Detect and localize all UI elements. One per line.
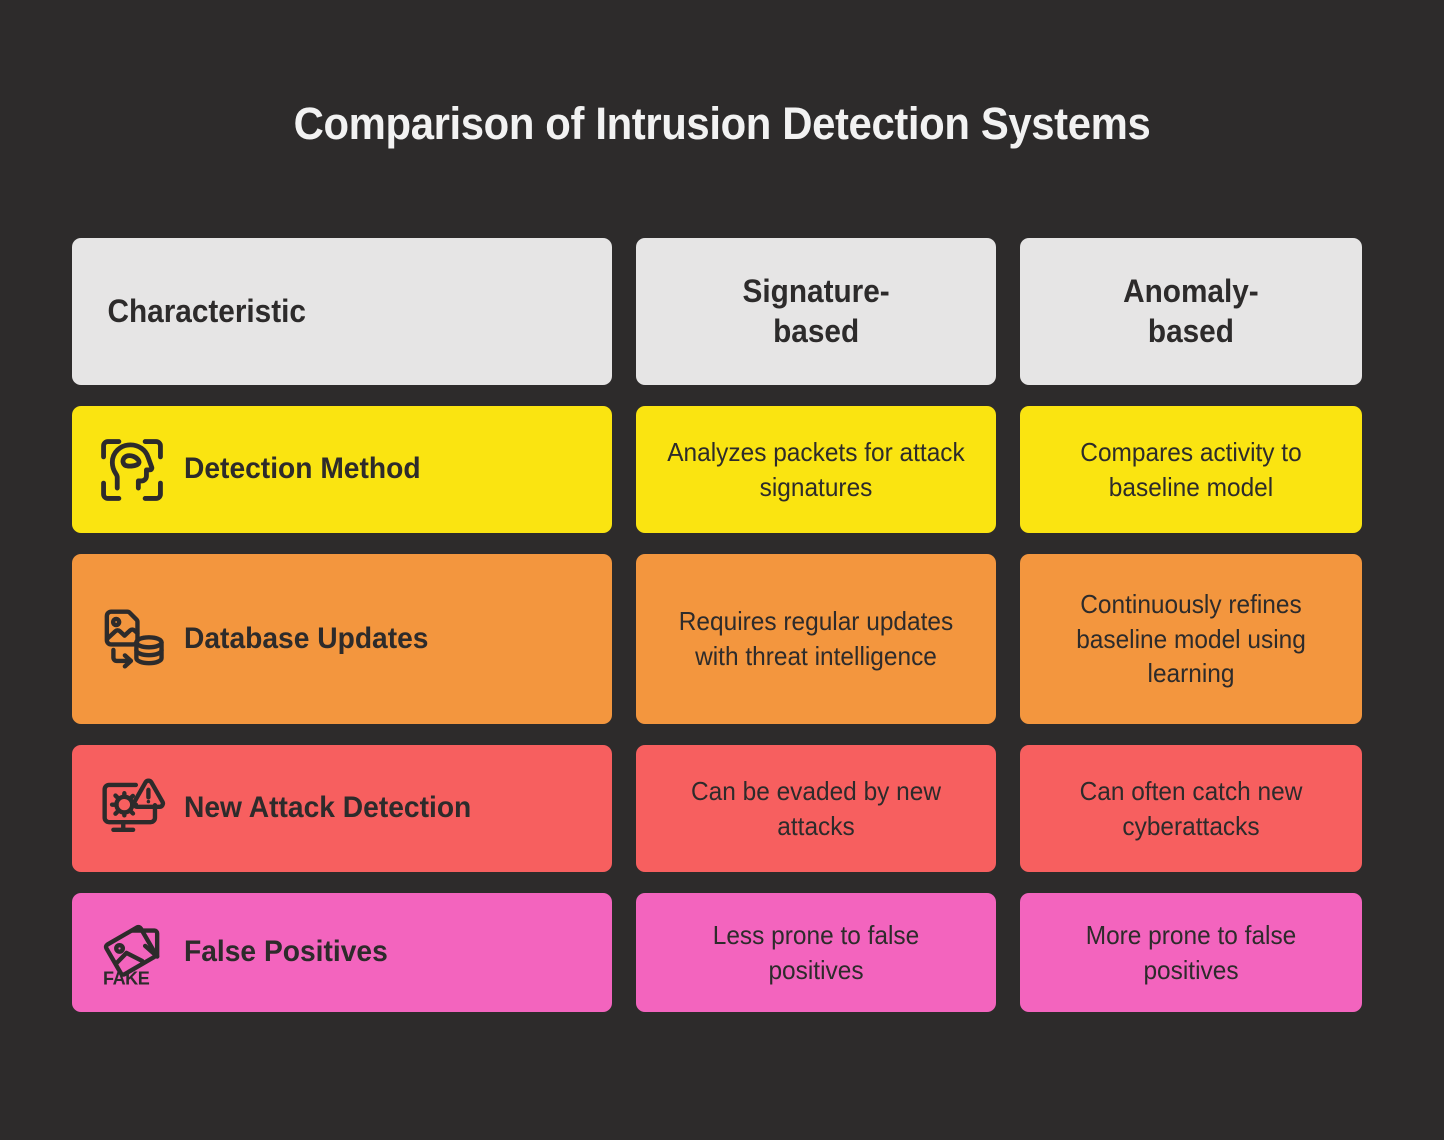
header-label-signature-based-line1: Signature- [742, 273, 889, 309]
cell-new-attack-detection-signature-based: Can be evaded by new attacks [636, 745, 996, 872]
cell-false-positives-anomaly-based: More prone to false positives [1020, 893, 1362, 1012]
cell-text: Requires regular updates with threat int… [666, 604, 967, 674]
comparison-table: Characteristic Signature- based Anomaly-… [72, 238, 1362, 1012]
cell-text: Compares activity to baseline model [1049, 435, 1333, 505]
row-label-text-new-attack-detection: New Attack Detection [184, 791, 471, 826]
cell-text: Continuously refines baseline model usin… [1049, 587, 1333, 691]
cell-detection-method-signature-based: Analyzes packets for attack signatures [636, 406, 996, 533]
cell-detection-method-anomaly-based: Compares activity to baseline model [1020, 406, 1362, 533]
image-to-database-icon [94, 601, 170, 677]
page-title: Comparison of Intrusion Detection System… [51, 98, 1394, 150]
cell-database-updates-signature-based: Requires regular updates with threat int… [636, 554, 996, 724]
cell-text: More prone to false positives [1049, 918, 1333, 988]
row-label-detection-method: Detection Method [72, 406, 612, 533]
row-label-false-positives: FAKE False Positives [72, 893, 612, 1012]
row-label-text-database-updates: Database Updates [184, 622, 429, 657]
head-scan-icon [94, 432, 170, 508]
cell-new-attack-detection-anomaly-based: Can often catch new cyberattacks [1020, 745, 1362, 872]
header-label-characteristic: Characteristic [107, 292, 305, 331]
row-label-new-attack-detection: New Attack Detection [72, 745, 612, 872]
header-label-signature-based: Signature- based [742, 272, 889, 350]
cell-database-updates-anomaly-based: Continuously refines baseline model usin… [1020, 554, 1362, 724]
header-label-signature-based-line2: based [773, 313, 859, 349]
fake-photos-icon: FAKE [94, 915, 170, 991]
cell-text: Can be evaded by new attacks [666, 774, 967, 844]
svg-text:FAKE: FAKE [103, 968, 150, 987]
cell-text: Can often catch new cyberattacks [1049, 774, 1333, 844]
row-label-database-updates: Database Updates [72, 554, 612, 724]
header-label-anomaly-based: Anomaly- based [1123, 272, 1259, 350]
cell-false-positives-signature-based: Less prone to false positives [636, 893, 996, 1012]
row-label-text-detection-method: Detection Method [184, 452, 421, 487]
cell-text: Analyzes packets for attack signatures [666, 435, 967, 505]
header-label-anomaly-based-line2: based [1148, 313, 1234, 349]
row-label-text-false-positives: False Positives [184, 935, 388, 970]
header-label-anomaly-based-line1: Anomaly- [1123, 273, 1259, 309]
cell-text: Less prone to false positives [666, 918, 967, 988]
header-cell-characteristic: Characteristic [72, 238, 612, 385]
monitor-bug-warning-icon [94, 771, 170, 847]
header-cell-signature-based: Signature- based [636, 238, 996, 385]
infographic-root: Comparison of Intrusion Detection System… [0, 0, 1444, 1140]
header-cell-anomaly-based: Anomaly- based [1020, 238, 1362, 385]
